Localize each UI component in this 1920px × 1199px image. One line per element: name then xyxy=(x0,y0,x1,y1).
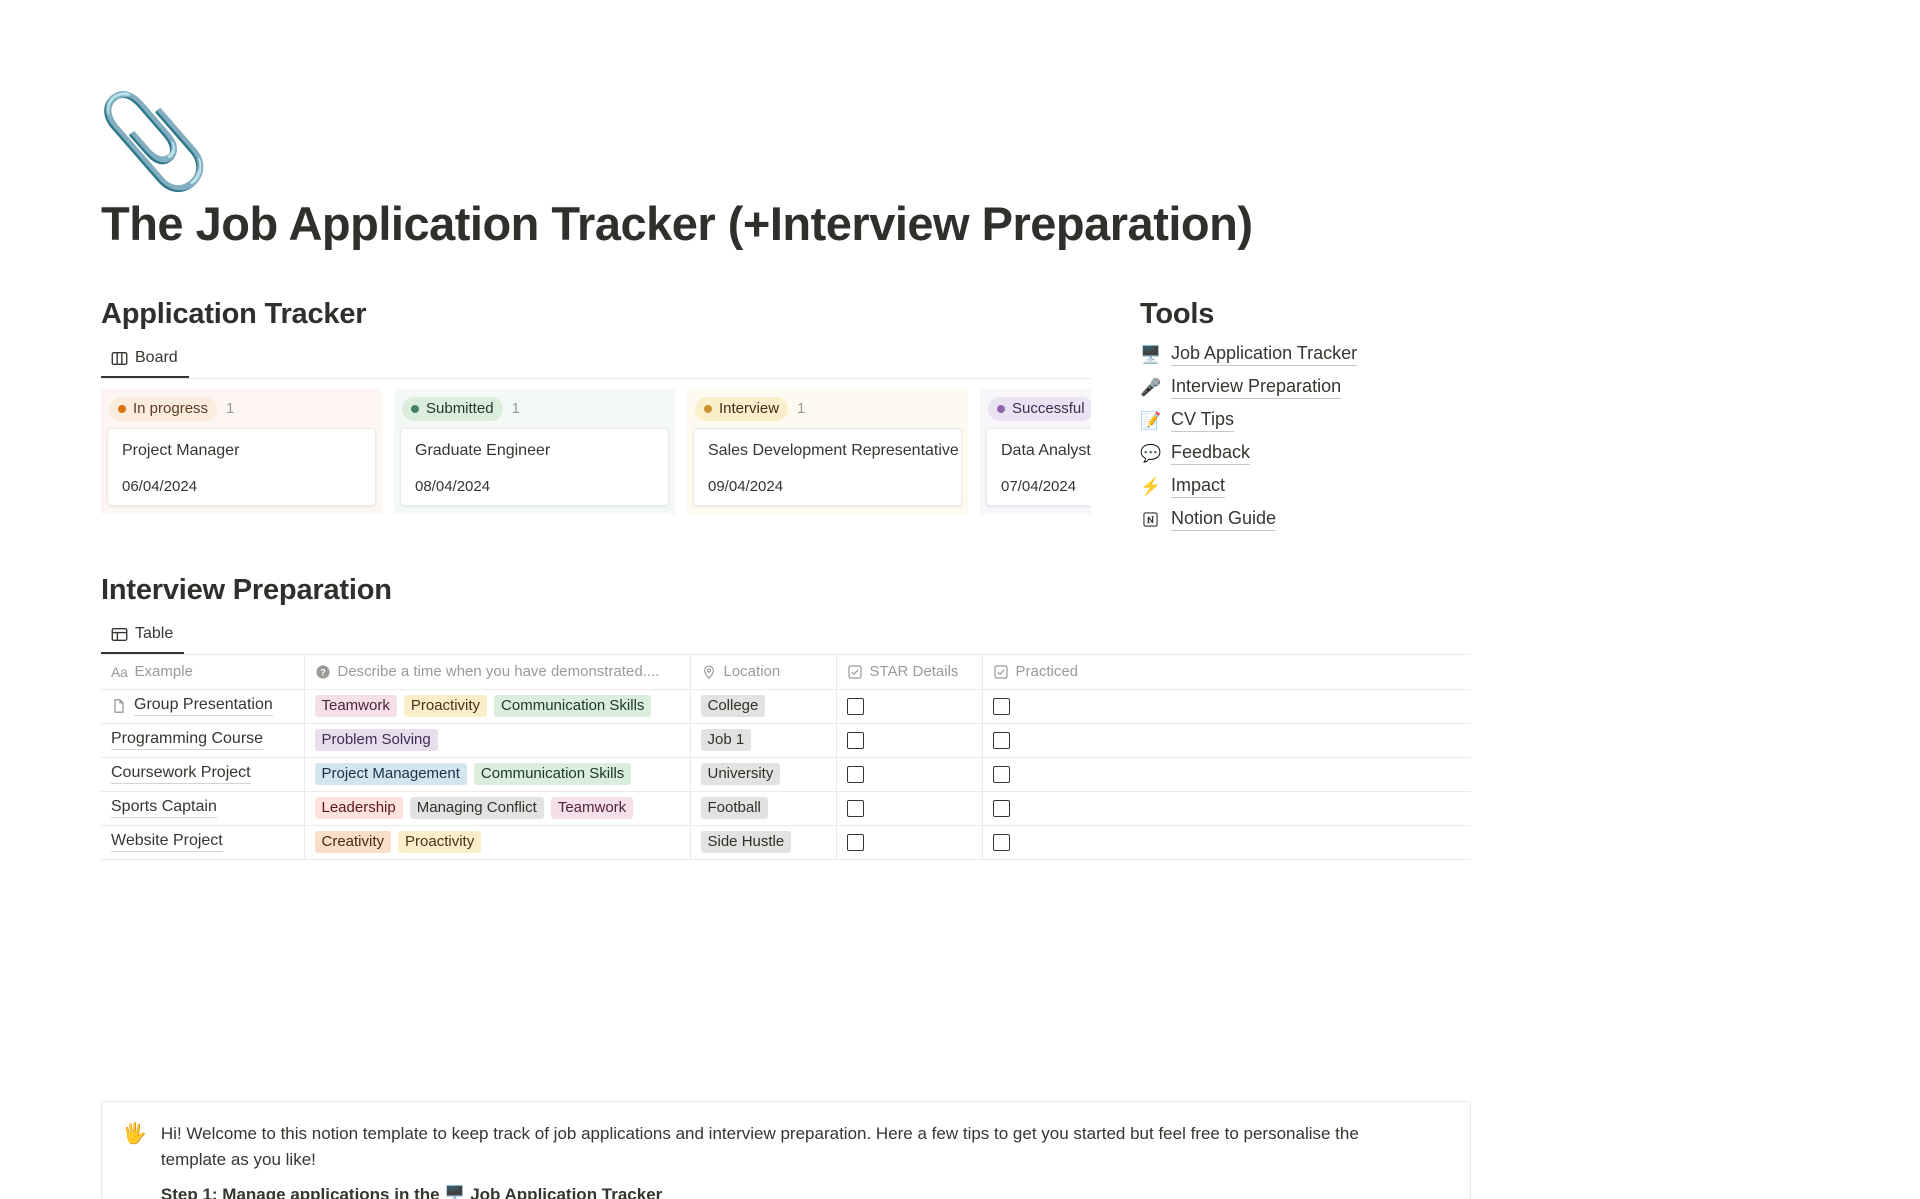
tool-link-feedback[interactable]: 💬 Feedback xyxy=(1140,437,1560,470)
interview-preparation-table: Aa Example ? Describe a time when you ha… xyxy=(101,655,1471,860)
column-header-star-details[interactable]: STAR Details xyxy=(836,655,982,689)
column-header-practiced[interactable]: Practiced xyxy=(982,655,1471,689)
tool-label: CV Tips xyxy=(1171,409,1234,432)
card-date: 09/04/2024 xyxy=(708,478,947,495)
status-label: Successful xyxy=(1012,400,1085,417)
callout-step-link[interactable]: Job Application Tracker xyxy=(470,1185,662,1199)
welcome-callout: 🖐️ Hi! Welcome to this notion template t… xyxy=(101,1101,1471,1199)
board-column-in-progress: In progress 1 Project Manager 06/04/2024 xyxy=(101,389,382,514)
location-tag: Side Hustle xyxy=(701,831,792,853)
tool-label: Notion Guide xyxy=(1171,508,1276,531)
callout-line-3: Step 1: Manage applications in the 🖥️ Jo… xyxy=(161,1182,1359,1199)
status-dot-icon xyxy=(411,405,419,413)
column-header: Interview 1 xyxy=(687,389,968,428)
microphone-icon: 🎤 xyxy=(1140,379,1161,396)
column-header-location[interactable]: Location xyxy=(690,655,836,689)
star-details-checkbox[interactable] xyxy=(847,732,864,749)
skill-tag: Communication Skills xyxy=(474,763,631,785)
skill-tag: Teamwork xyxy=(551,797,633,819)
skill-tag: Problem Solving xyxy=(315,729,438,751)
cell-skills[interactable]: CreativityProactivity xyxy=(304,825,690,859)
status-label: In progress xyxy=(133,400,208,417)
cell-example[interactable]: Coursework Project xyxy=(101,757,304,791)
cell-location[interactable]: University xyxy=(690,757,836,791)
notion-page: 📎 The Job Application Tracker (+Intervie… xyxy=(0,0,1920,1199)
board-column-submitted: Submitted 1 Graduate Engineer 08/04/2024 xyxy=(394,389,675,514)
practiced-checkbox[interactable] xyxy=(993,698,1010,715)
question-mark-icon: ? xyxy=(315,664,331,680)
cell-star-details[interactable] xyxy=(836,791,982,825)
notion-logo-icon xyxy=(1140,512,1161,527)
table-header-row: Aa Example ? Describe a time when you ha… xyxy=(101,655,1471,689)
status-badge[interactable]: Submitted xyxy=(402,397,503,421)
table-row[interactable]: Programming CourseProblem SolvingJob 1 xyxy=(101,723,1471,757)
speech-balloon-icon: 💬 xyxy=(1140,445,1161,462)
example-label: Sports Captain xyxy=(111,798,217,818)
practiced-checkbox[interactable] xyxy=(993,800,1010,817)
application-tracker-heading: Application Tracker xyxy=(101,298,366,331)
status-badge[interactable]: Interview xyxy=(695,397,788,421)
interview-preparation-heading: Interview Preparation xyxy=(101,574,392,607)
board-card[interactable]: Project Manager 06/04/2024 xyxy=(107,428,376,506)
board-card[interactable]: Graduate Engineer 08/04/2024 xyxy=(400,428,669,506)
star-details-checkbox[interactable] xyxy=(847,766,864,783)
tools-heading: Tools xyxy=(1140,298,1214,331)
location-tag: Football xyxy=(701,797,768,819)
table-row[interactable]: Website ProjectCreativityProactivitySide… xyxy=(101,825,1471,859)
kanban-board: In progress 1 Project Manager 06/04/2024… xyxy=(101,389,1091,514)
board-view-tabs: Board xyxy=(101,340,1091,379)
tool-link-cv-tips[interactable]: 📝 CV Tips xyxy=(1140,404,1560,437)
tab-board[interactable]: Board xyxy=(101,340,189,378)
card-title: Project Manager xyxy=(122,442,361,460)
skill-tag: Creativity xyxy=(315,831,392,853)
board-column-interview: Interview 1 Sales Development Representa… xyxy=(687,389,968,514)
skill-tag: Proactivity xyxy=(398,831,481,853)
cell-location[interactable]: College xyxy=(690,689,836,723)
star-details-checkbox[interactable] xyxy=(847,698,864,715)
cell-location[interactable]: Side Hustle xyxy=(690,825,836,859)
cell-skills[interactable]: Project ManagementCommunication Skills xyxy=(304,757,690,791)
tab-table-label: Table xyxy=(135,625,173,643)
column-count: 1 xyxy=(512,400,520,417)
board-column-successful: Successful Data Analyst 07/04/2024 xyxy=(980,389,1091,514)
tool-label: Impact xyxy=(1171,475,1225,498)
skill-tag: Teamwork xyxy=(315,695,397,717)
tool-link-job-application-tracker[interactable]: 🖥️ Job Application Tracker xyxy=(1140,338,1560,371)
map-pin-icon xyxy=(701,664,717,680)
card-title: Graduate Engineer xyxy=(415,442,654,460)
board-card[interactable]: Data Analyst 07/04/2024 xyxy=(986,428,1091,506)
status-badge[interactable]: Successful xyxy=(988,397,1091,421)
tool-label: Job Application Tracker xyxy=(1171,343,1357,366)
example-label: Programming Course xyxy=(111,730,263,750)
cell-example[interactable]: Programming Course xyxy=(101,723,304,757)
callout-line-2: template as you like! xyxy=(161,1147,1359,1173)
column-header-label: Describe a time when you have demonstrat… xyxy=(338,663,660,680)
column-header: Successful xyxy=(980,389,1091,428)
board-card[interactable]: Sales Development Representative 09/04/2… xyxy=(693,428,962,506)
tool-link-notion-guide[interactable]: Notion Guide xyxy=(1140,503,1560,536)
callout-step-prefix: Step 1: Manage applications in the xyxy=(161,1185,444,1199)
cell-skills[interactable]: LeadershipManaging ConflictTeamwork xyxy=(304,791,690,825)
table-row[interactable]: Coursework ProjectProject ManagementComm… xyxy=(101,757,1471,791)
callout-line-1: Hi! Welcome to this notion template to k… xyxy=(161,1121,1359,1147)
skill-tag: Leadership xyxy=(315,797,403,819)
checkbox-icon xyxy=(847,664,863,680)
card-date: 08/04/2024 xyxy=(415,478,654,495)
cell-example[interactable]: Sports Captain xyxy=(101,791,304,825)
cell-practiced[interactable] xyxy=(982,723,1471,757)
tool-link-impact[interactable]: ⚡ Impact xyxy=(1140,470,1560,503)
page-icon[interactable]: 📎 xyxy=(100,88,208,196)
status-badge[interactable]: In progress xyxy=(109,397,217,421)
card-date: 06/04/2024 xyxy=(122,478,361,495)
cell-example[interactable]: Group Presentation xyxy=(101,689,304,723)
cell-location[interactable]: Football xyxy=(690,791,836,825)
cell-practiced[interactable] xyxy=(982,689,1471,723)
tool-link-interview-preparation[interactable]: 🎤 Interview Preparation xyxy=(1140,371,1560,404)
callout-text: Hi! Welcome to this notion template to k… xyxy=(161,1121,1359,1199)
card-title: Data Analyst xyxy=(1001,442,1091,460)
status-label: Interview xyxy=(719,400,779,417)
column-header-label: STAR Details xyxy=(870,663,959,680)
status-label: Submitted xyxy=(426,400,494,417)
cell-example[interactable]: Website Project xyxy=(101,825,304,859)
column-header: In progress 1 xyxy=(101,389,382,428)
title-aa-icon: Aa xyxy=(111,664,128,680)
cell-star-details[interactable] xyxy=(836,825,982,859)
page-document-icon xyxy=(111,698,127,714)
status-dot-icon xyxy=(704,405,712,413)
svg-text:?: ? xyxy=(320,667,326,677)
cell-star-details[interactable] xyxy=(836,757,982,791)
skill-tag: Project Management xyxy=(315,763,467,785)
tab-table[interactable]: Table xyxy=(101,616,184,654)
example-label: Coursework Project xyxy=(111,764,251,784)
column-count: 1 xyxy=(797,400,805,417)
example-label: Website Project xyxy=(111,832,223,852)
location-tag: College xyxy=(701,695,766,717)
star-details-checkbox[interactable] xyxy=(847,800,864,817)
example-label: Group Presentation xyxy=(134,696,273,716)
column-header-label: Example xyxy=(135,663,193,680)
column-header-example[interactable]: Aa Example xyxy=(101,655,304,689)
cell-star-details[interactable] xyxy=(836,689,982,723)
desktop-computer-icon: 🖥️ xyxy=(444,1185,465,1199)
desktop-computer-icon: 🖥️ xyxy=(1140,346,1161,363)
column-header-label: Location xyxy=(724,663,781,680)
cell-star-details[interactable] xyxy=(836,723,982,757)
checkbox-icon xyxy=(993,664,1009,680)
status-dot-icon xyxy=(118,405,126,413)
cell-skills[interactable]: TeamworkProactivityCommunication Skills xyxy=(304,689,690,723)
tab-board-label: Board xyxy=(135,349,178,367)
table-view-tabs: Table xyxy=(101,616,1471,655)
cell-location[interactable]: Job 1 xyxy=(690,723,836,757)
cell-skills[interactable]: Problem Solving xyxy=(304,723,690,757)
practiced-checkbox[interactable] xyxy=(993,732,1010,749)
skill-tag: Communication Skills xyxy=(494,695,651,717)
board-view-icon xyxy=(111,350,128,367)
column-header-describe[interactable]: ? Describe a time when you have demonstr… xyxy=(304,655,690,689)
cell-practiced[interactable] xyxy=(982,791,1471,825)
column-count: 1 xyxy=(226,400,234,417)
card-date: 07/04/2024 xyxy=(1001,478,1091,495)
practiced-checkbox[interactable] xyxy=(993,766,1010,783)
practiced-checkbox[interactable] xyxy=(993,834,1010,851)
column-header: Submitted 1 xyxy=(394,389,675,428)
star-details-checkbox[interactable] xyxy=(847,834,864,851)
tools-list: 🖥️ Job Application Tracker 🎤 Interview P… xyxy=(1140,338,1560,536)
cell-practiced[interactable] xyxy=(982,757,1471,791)
memo-icon: 📝 xyxy=(1140,412,1161,429)
table-row[interactable]: Sports CaptainLeadershipManaging Conflic… xyxy=(101,791,1471,825)
high-voltage-icon: ⚡ xyxy=(1140,478,1161,495)
location-tag: University xyxy=(701,763,781,785)
skill-tag: Proactivity xyxy=(404,695,487,717)
card-title: Sales Development Representative xyxy=(708,442,947,460)
tool-label: Interview Preparation xyxy=(1171,376,1341,399)
status-dot-icon xyxy=(997,405,1005,413)
location-tag: Job 1 xyxy=(701,729,752,751)
page-title: The Job Application Tracker (+Interview … xyxy=(101,196,1252,251)
raised-hand-icon: 🖐️ xyxy=(122,1121,147,1199)
cell-practiced[interactable] xyxy=(982,825,1471,859)
column-header-label: Practiced xyxy=(1016,663,1079,680)
table-view-icon xyxy=(111,626,128,643)
skill-tag: Managing Conflict xyxy=(410,797,544,819)
table-row[interactable]: Group PresentationTeamworkProactivityCom… xyxy=(101,689,1471,723)
tool-label: Feedback xyxy=(1171,442,1250,465)
